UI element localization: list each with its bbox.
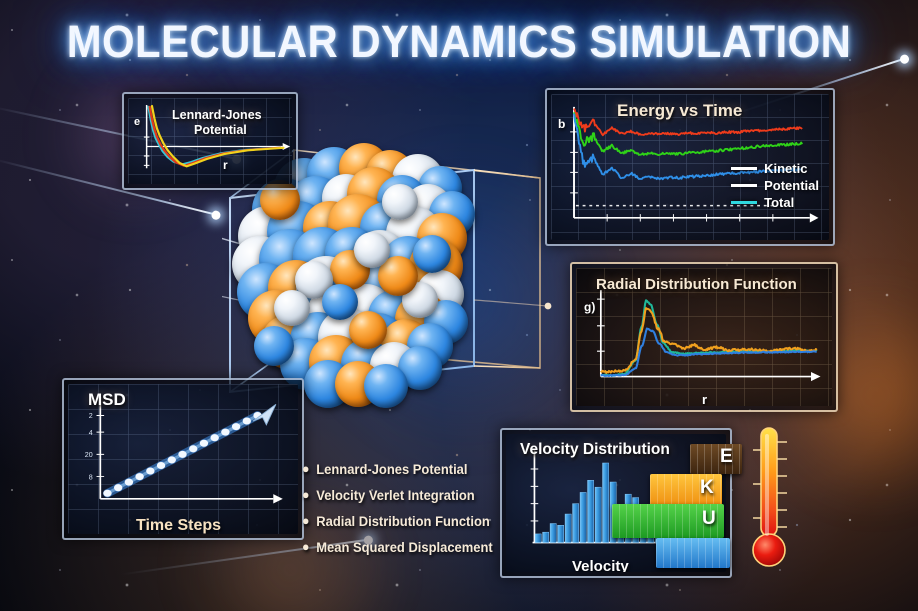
rdf-x-axis-label: r bbox=[702, 392, 707, 406]
lj-title-line1: Lennard-Jones bbox=[172, 108, 262, 122]
histogram-bar bbox=[573, 504, 579, 543]
energy-bar-E bbox=[690, 444, 742, 474]
energy-bar-label: K bbox=[700, 477, 714, 499]
atom-sphere bbox=[254, 326, 294, 366]
feature-list-label: Mean Squared Displacement bbox=[316, 540, 492, 555]
histogram-bar bbox=[558, 525, 564, 542]
feature-list-item: ●Mean Squared Displacement bbox=[302, 540, 508, 555]
energy-bar-label: E bbox=[720, 446, 733, 468]
energy-title: Energy vs Time bbox=[617, 101, 742, 121]
msd-point bbox=[200, 440, 208, 447]
poster-canvas: MOLECULAR DYNAMICS SIMULATION bbox=[0, 0, 918, 611]
energy-bar-extra bbox=[656, 538, 730, 568]
panel-energy-vs-time: Energy vs Time b KineticPotentialTotal bbox=[545, 88, 835, 246]
legend-item: Total bbox=[731, 195, 819, 210]
histogram-bar bbox=[550, 524, 556, 543]
msd-x-axis-label: Time Steps bbox=[136, 517, 221, 534]
legend-label: Potential bbox=[764, 178, 819, 193]
histogram-bar bbox=[535, 534, 541, 543]
msd-point bbox=[232, 423, 240, 430]
bar-stripes bbox=[656, 538, 730, 568]
atom-sphere bbox=[413, 235, 451, 273]
thermometer-svg bbox=[748, 424, 790, 576]
atom-sphere bbox=[322, 284, 358, 320]
feature-list-label: Lennard-Jones Potential bbox=[316, 462, 467, 477]
atom-sphere bbox=[274, 290, 310, 326]
bar-stripes bbox=[690, 444, 742, 474]
atom-sphere bbox=[364, 364, 408, 408]
atom-sphere bbox=[349, 311, 387, 349]
panel-inner: 24208 MSD Time Steps bbox=[68, 384, 298, 534]
energy-legend: KineticPotentialTotal bbox=[731, 161, 819, 212]
atom-sphere bbox=[382, 184, 418, 220]
bullet-dot-icon: ● bbox=[302, 488, 310, 502]
lj-y-axis-label: e bbox=[134, 116, 140, 128]
msd-point bbox=[168, 456, 176, 463]
histogram-bar bbox=[543, 532, 549, 542]
legend-swatch bbox=[731, 184, 757, 187]
legend-swatch bbox=[731, 201, 757, 204]
bullet-dot-icon: ● bbox=[302, 514, 310, 528]
msd-point bbox=[103, 490, 111, 497]
rdf-y-axis-label: g) bbox=[584, 300, 595, 314]
feature-list-item: ●Lennard-Jones Potential bbox=[302, 462, 508, 477]
msd-point bbox=[189, 445, 197, 452]
legend-label: Total bbox=[764, 195, 794, 210]
msd-point bbox=[210, 434, 218, 441]
bullet-dot-icon: ● bbox=[302, 462, 310, 476]
msd-point bbox=[178, 451, 186, 458]
msd-point bbox=[135, 473, 143, 480]
rdf-title: Radial Distribution Function bbox=[596, 276, 797, 293]
msd-point bbox=[157, 462, 165, 469]
feature-list-item: ●Velocity Verlet Integration bbox=[302, 488, 508, 503]
feature-list-item: ●Radial Distribution Function bbox=[302, 514, 508, 529]
legend-swatch bbox=[731, 167, 757, 170]
page-title: MOLECULAR DYNAMICS SIMULATION bbox=[32, 16, 886, 68]
histogram-bar bbox=[565, 514, 571, 543]
panel-lennard-jones: e r Lennard-Jones Potential bbox=[122, 92, 298, 190]
feature-list-label: Radial Distribution Function bbox=[316, 514, 490, 529]
series-g-teal bbox=[601, 300, 817, 376]
legend-item: Kinetic bbox=[731, 161, 819, 176]
histogram-bar bbox=[588, 480, 594, 542]
lj-title-line2: Potential bbox=[194, 123, 247, 137]
energy-y-axis-label: b bbox=[558, 117, 565, 131]
lj-x-axis-label: r bbox=[223, 158, 228, 172]
thermometer-icon bbox=[748, 424, 790, 576]
panel-inner: e r Lennard-Jones Potential bbox=[128, 98, 292, 184]
legend-item: Potential bbox=[731, 178, 819, 193]
msd-ytick: 4 bbox=[89, 430, 93, 437]
panel-radial-distribution-function: Radial Distribution Function g) r bbox=[570, 262, 838, 412]
panel-inner: Radial Distribution Function g) r bbox=[576, 268, 832, 406]
msd-point bbox=[125, 479, 133, 486]
bullet-dot-icon: ● bbox=[302, 540, 310, 554]
histogram-bar bbox=[595, 487, 601, 542]
histogram-bar bbox=[580, 492, 586, 542]
msd-ytick: 2 bbox=[89, 413, 93, 420]
msd-ytick: 8 bbox=[89, 474, 93, 481]
histogram-bar bbox=[603, 463, 609, 543]
feature-list: ●Lennard-Jones Potential●Velocity Verlet… bbox=[302, 462, 517, 566]
panel-mean-squared-displacement: 24208 MSD Time Steps bbox=[62, 378, 304, 540]
atom-sphere bbox=[354, 232, 390, 268]
legend-label: Kinetic bbox=[764, 161, 807, 176]
panel-inner: Energy vs Time b KineticPotentialTotal bbox=[551, 94, 829, 240]
feature-list-label: Velocity Verlet Integration bbox=[316, 488, 474, 503]
msd-ytick: 20 bbox=[85, 452, 93, 459]
msd-point bbox=[146, 468, 154, 475]
msd-point bbox=[221, 429, 229, 436]
msd-title: MSD bbox=[88, 390, 126, 410]
energy-bar-label: U bbox=[702, 508, 716, 530]
msd-point bbox=[114, 484, 122, 491]
msd-point bbox=[243, 418, 251, 425]
